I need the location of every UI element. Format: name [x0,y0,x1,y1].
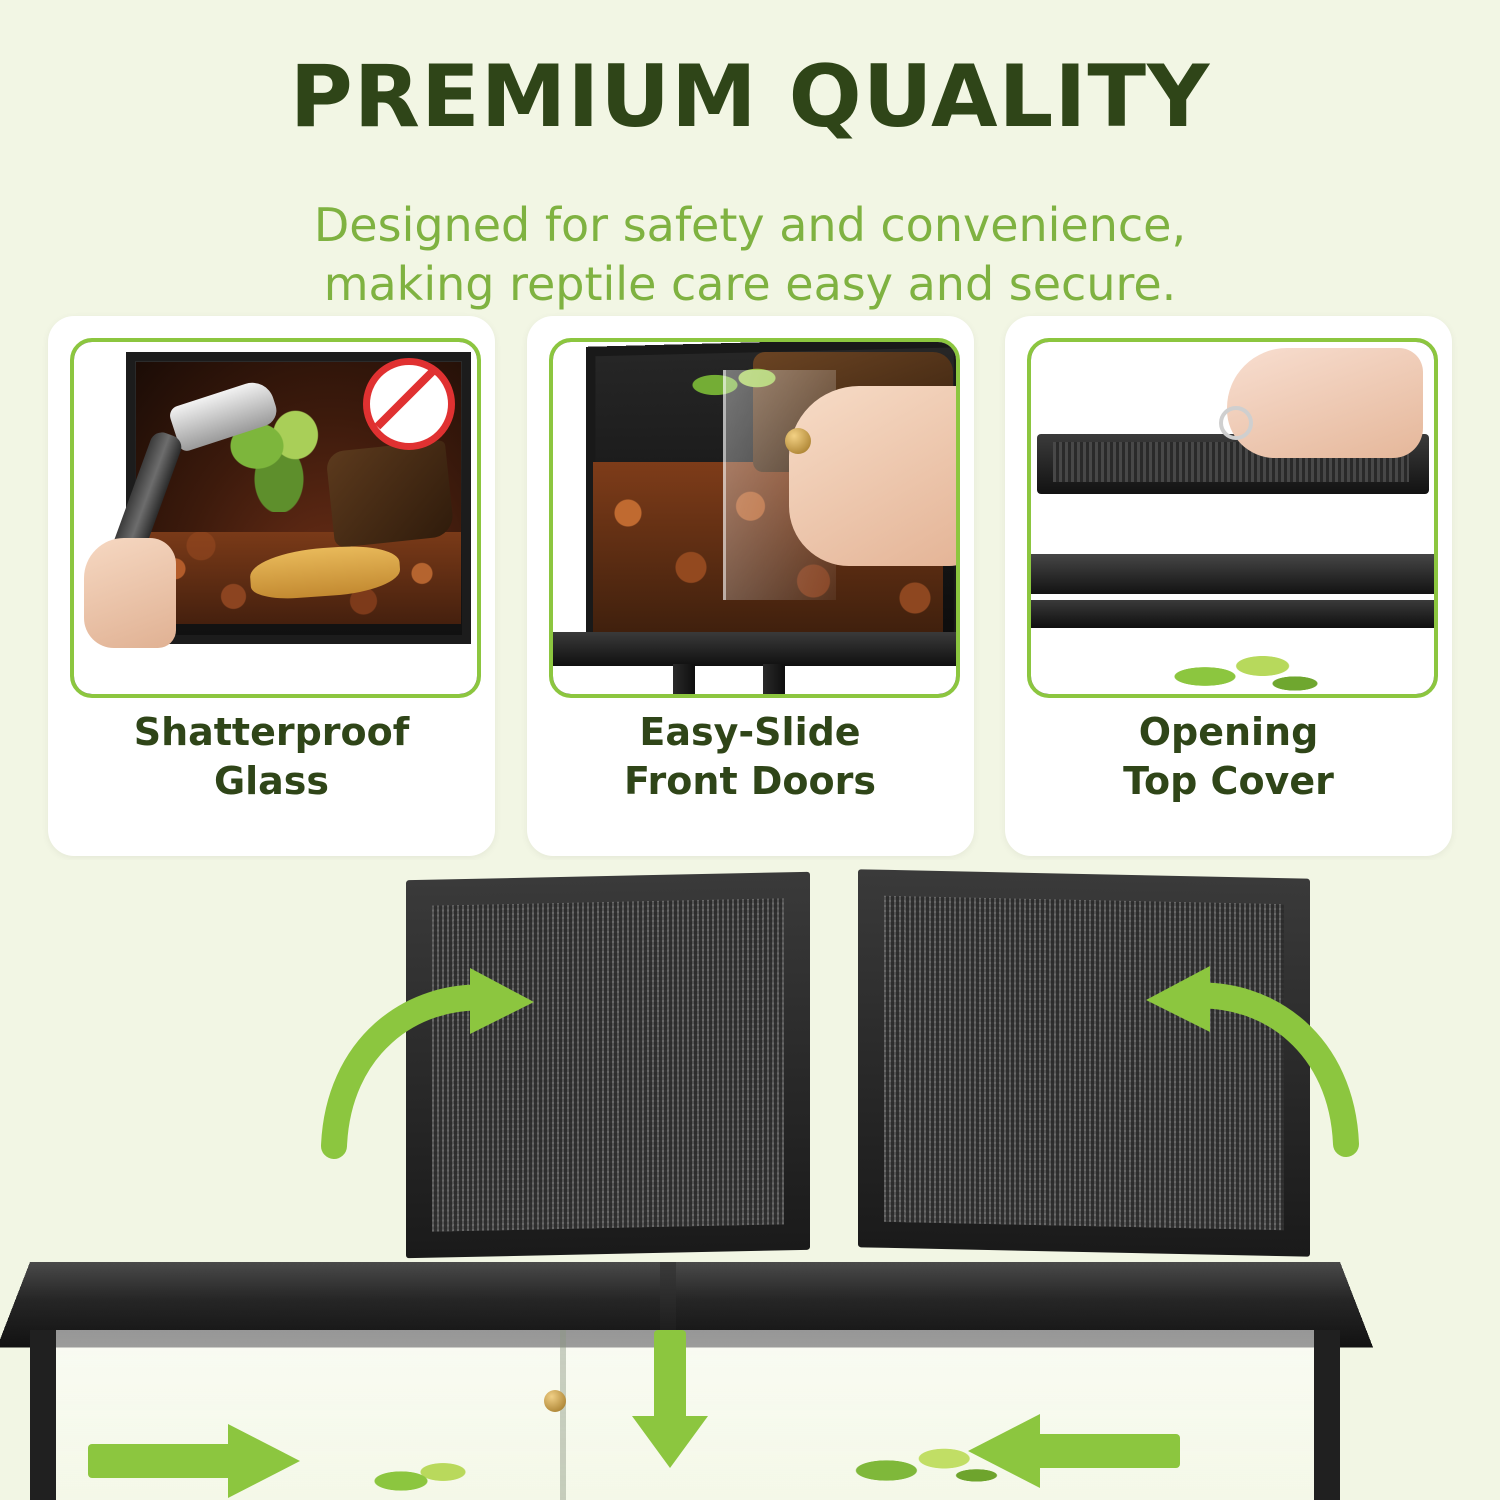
feature-caption: Opening Top Cover [1005,708,1452,805]
arrow-door-center [630,1330,710,1470]
arrow-door-left [88,1422,308,1500]
arrow-top-left-curved [320,968,540,1168]
stand-leg [763,664,785,694]
feature-caption: Easy-Slide Front Doors [527,708,974,805]
feature-photo-shatterproof-glass [70,338,481,698]
arrow-door-right [960,1412,1180,1492]
feature-photo-easy-slide-front-doors [549,338,960,698]
plant-decor [1151,638,1331,698]
terrarium-lower-rail [1031,600,1434,628]
feature-caption-line-2: Front Doors [527,757,974,806]
front-door-seam [560,1330,566,1500]
subtitle-line-1: Designed for safety and convenience, [0,196,1500,255]
feature-caption-line-1: Easy-Slide [527,708,974,757]
door-knob-icon [544,1390,566,1412]
product-infographic: PREMIUM QUALITY Designed for safety and … [0,0,1500,1500]
feature-card-list: Shatterproof Glass Easy-Slide Fro [48,316,1452,856]
hand [789,386,960,566]
feature-photo-opening-top-cover [1027,338,1438,698]
terrarium-base-rail [553,632,956,666]
no-break-icon [363,358,455,450]
page-title: PREMIUM QUALITY [0,52,1500,142]
feature-caption-line-2: Glass [48,757,495,806]
door-knob-icon [785,428,811,454]
feature-caption: Shatterproof Glass [48,708,495,805]
plant-decor [352,1448,492,1500]
driftwood-decor [325,440,454,548]
feature-caption-line-1: Opening [1005,708,1452,757]
feature-caption-line-2: Top Cover [1005,757,1452,806]
hand [1227,348,1423,458]
page-subtitle: Designed for safety and convenience, mak… [0,196,1500,314]
feature-caption-line-1: Shatterproof [48,708,495,757]
terrarium-top-rail [1031,554,1434,594]
feature-card-opening-top-cover: Opening Top Cover [1005,316,1452,856]
stand-leg [673,664,695,694]
feature-card-shatterproof-glass: Shatterproof Glass [48,316,495,856]
hero-product-photo [0,860,1500,1500]
pull-ring-icon [1219,406,1253,440]
feature-card-easy-slide-front-doors: Easy-Slide Front Doors [527,316,974,856]
arrow-top-right-curved [1140,966,1360,1166]
hand [84,538,176,648]
subtitle-line-2: making reptile care easy and secure. [0,255,1500,314]
